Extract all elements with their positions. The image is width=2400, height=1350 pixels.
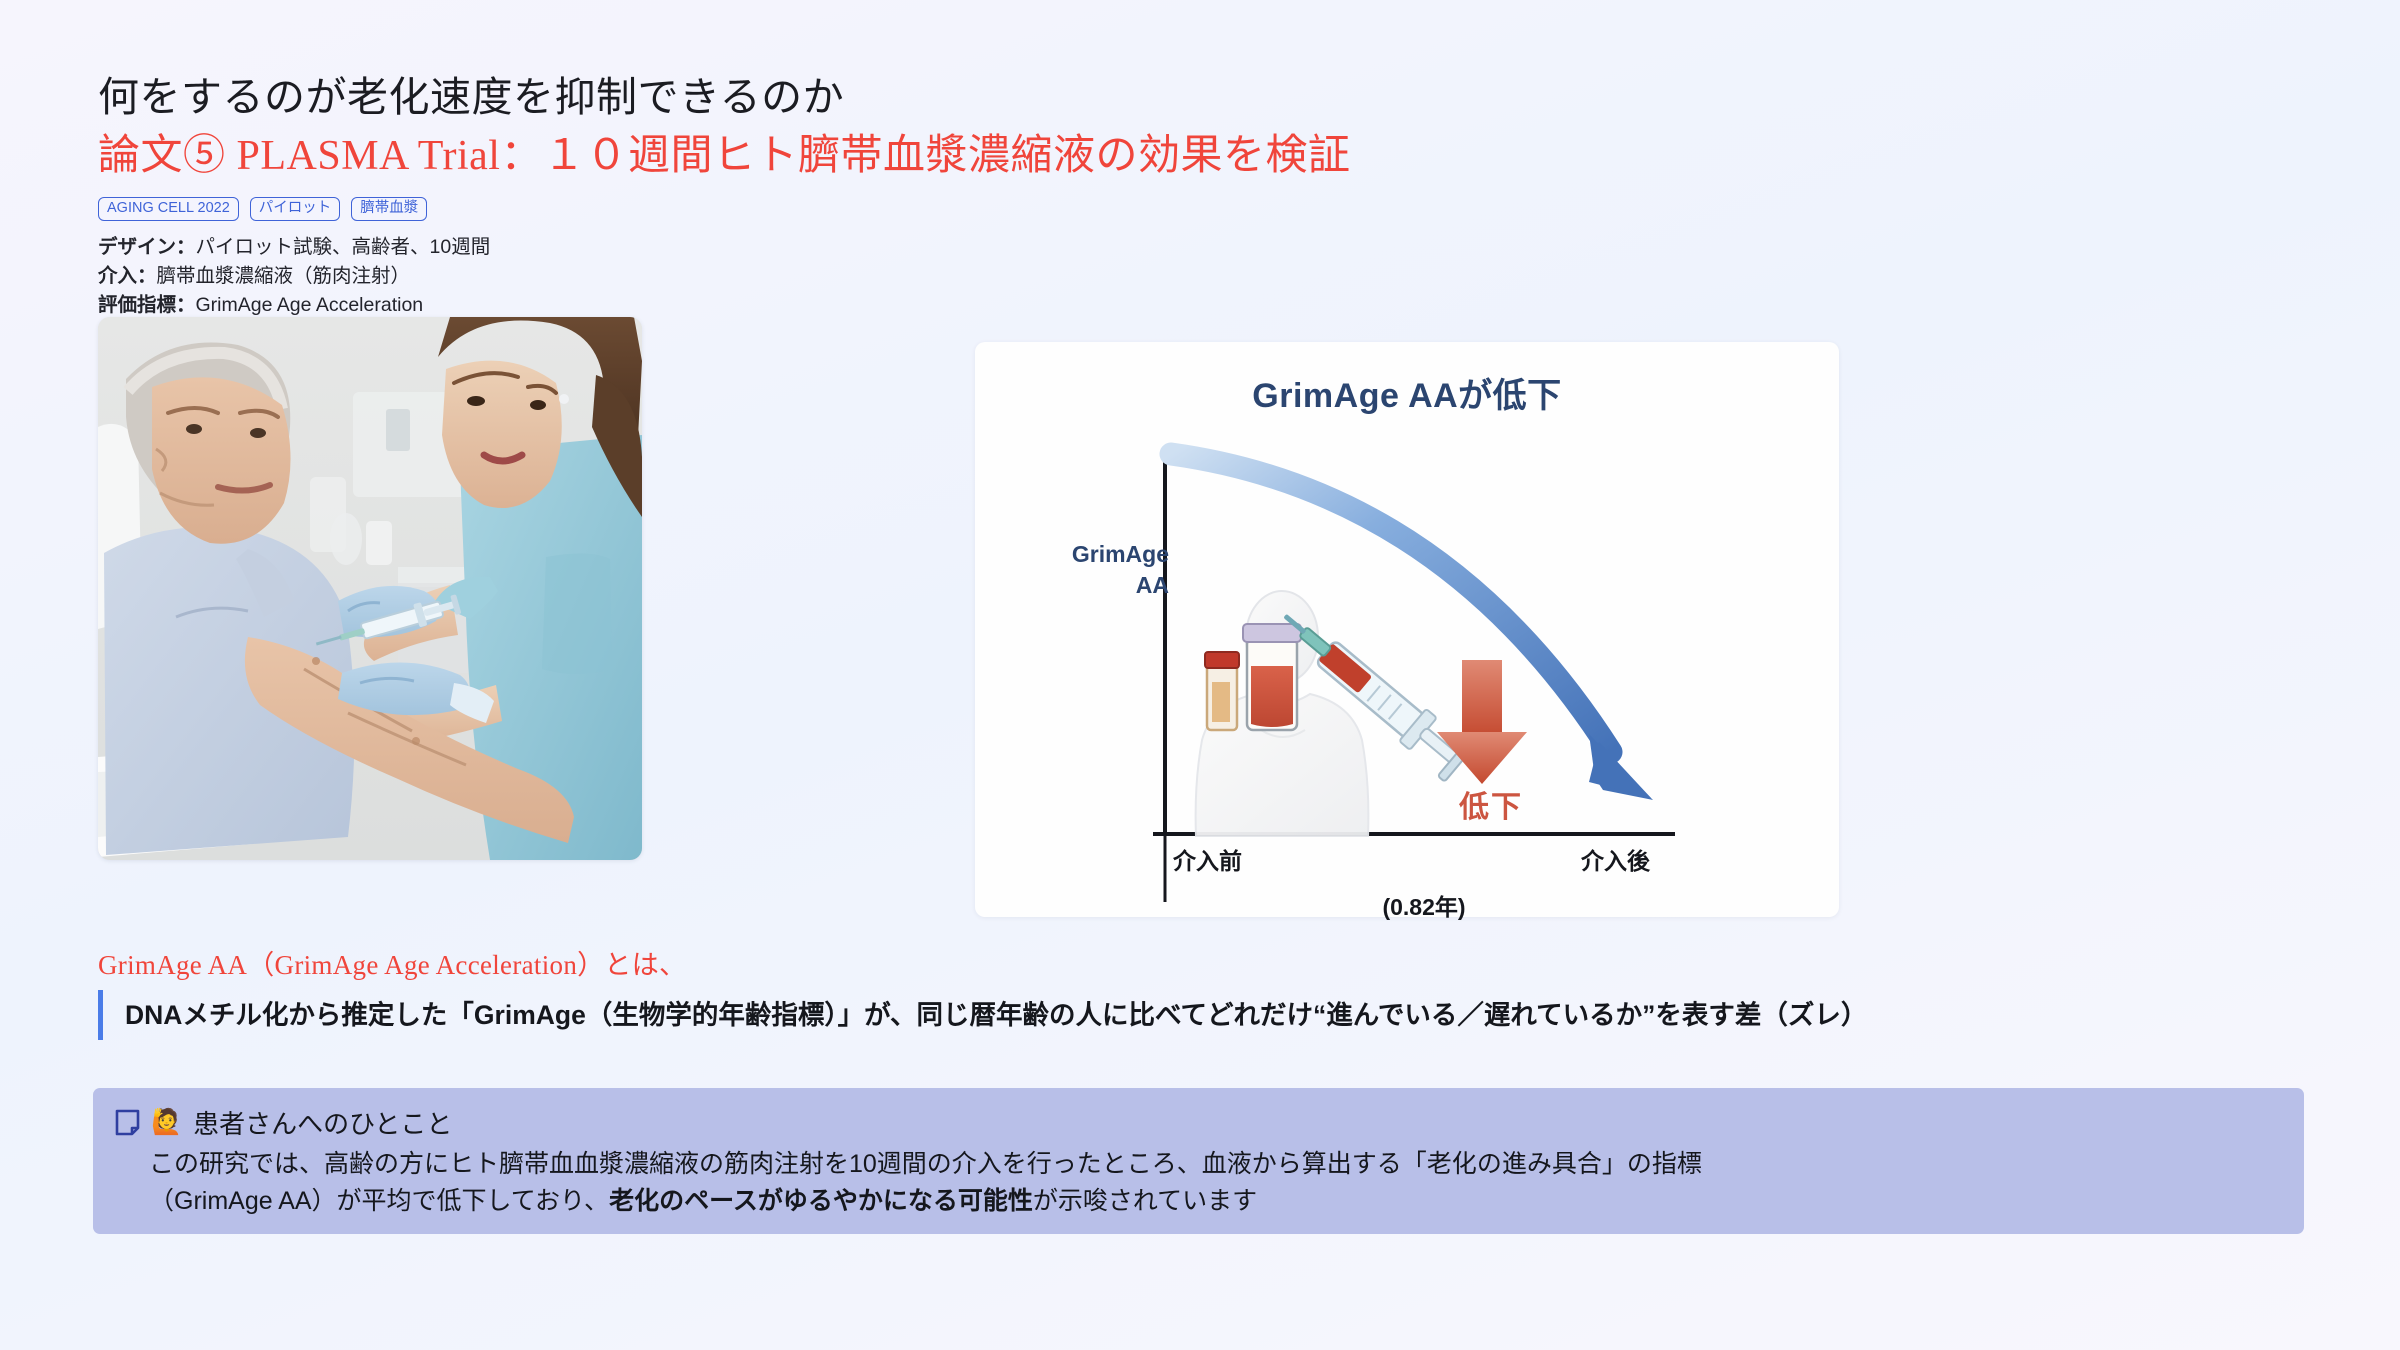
meta-key-design: デザイン： — [98, 236, 196, 258]
meta-key-intervention: 介入： — [98, 265, 157, 287]
callout-line-1: この研究では、高齢の方にヒト臍帯血血漿濃縮液の筋肉注射を10週間の介入を行ったと… — [149, 1146, 2304, 1183]
person-raising-hand-icon: 🙋 — [151, 1110, 182, 1135]
callout-line-2-emphasis: 老化のペースがゆるやかになる可能性 — [609, 1187, 1033, 1215]
photo-illustration — [98, 317, 642, 860]
chart-drop-annotation: 低下 — [1459, 782, 1523, 826]
note-icon — [115, 1109, 140, 1136]
chart-x-label-pre: 介入前 — [1173, 842, 1242, 876]
y-axis-label-line1: GrimAge — [1001, 539, 1169, 570]
meta-value-design: パイロット試験、高齢者、10週間 — [196, 236, 491, 258]
callout-line-2a: （GrimAge AA）が平均で低下しており、 — [149, 1187, 609, 1215]
chart-panel: GrimAge AAが低下 — [975, 342, 1839, 917]
chart-y-axis-label: GrimAge AA — [1001, 539, 1169, 601]
chart-graphic — [975, 342, 1839, 917]
callout-body: この研究では、高齢の方にヒト臍帯血血漿濃縮液の筋肉注射を10週間の介入を行ったと… — [115, 1146, 2304, 1219]
meta-value-intervention: 臍帯血漿濃縮液（筋肉注射） — [157, 265, 411, 287]
slide-header: 何をするのが老化速度を抑制できるのか 論文⑤ PLASMA Trial：１０週間… — [98, 72, 2298, 319]
page-subtitle: 論文⑤ PLASMA Trial：１０週間ヒト臍帯血漿濃縮液の効果を検証 — [98, 129, 2298, 184]
meta-row-outcome: 評価指標：GrimAge Age Acceleration — [98, 291, 2298, 320]
study-metadata: デザイン：パイロット試験、高齢者、10週間 介入：臍帯血漿濃縮液（筋肉注射） 評… — [98, 233, 2298, 319]
callout-line-2: （GrimAge AA）が平均で低下しており、老化のペースがゆるやかになる可能性… — [149, 1183, 2304, 1220]
meta-row-design: デザイン：パイロット試験、高齢者、10週間 — [98, 233, 2298, 262]
callout-heading-text: 患者さんへのひとこと — [193, 1104, 452, 1141]
badge-journal: AGING CELL 2022 — [98, 197, 239, 221]
callout-header: 🙋 患者さんへのひとこと — [115, 1104, 2304, 1141]
definition-heading: GrimAge AA（GrimAge Age Acceleration）とは、 — [98, 943, 686, 982]
chart-delta-annotation: (0.82年) — [975, 888, 1839, 922]
patient-callout: 🙋 患者さんへのひとこと この研究では、高齢の方にヒト臍帯血血漿濃縮液の筋肉注射… — [93, 1088, 2304, 1234]
badge-study-type: パイロット — [250, 197, 341, 221]
meta-row-intervention: 介入：臍帯血漿濃縮液（筋肉注射） — [98, 262, 2298, 291]
chart-x-label-post: 介入後 — [1581, 842, 1650, 876]
definition-block: DNAメチル化から推定した「GrimAge（生物学的年齢指標）」が、同じ暦年齢の… — [98, 990, 2318, 1040]
callout-line-2c: が示唆されています — [1033, 1187, 1257, 1215]
clinical-photo — [98, 317, 642, 860]
meta-key-outcome: 評価指標： — [98, 294, 196, 316]
page-title: 何をするのが老化速度を抑制できるのか — [98, 72, 2298, 123]
y-axis-label-line2: AA — [1001, 570, 1169, 601]
vial-small-icon — [1205, 652, 1239, 730]
badge-intervention: 臍帯血漿 — [351, 197, 427, 221]
vial-large-icon — [1243, 624, 1301, 730]
meta-value-outcome: GrimAge Age Acceleration — [196, 294, 424, 316]
definition-text: DNAメチル化から推定した「GrimAge（生物学的年齢指標）」が、同じ暦年齢の… — [125, 996, 2318, 1034]
badge-list: AGING CELL 2022 パイロット 臍帯血漿 — [98, 197, 2298, 221]
